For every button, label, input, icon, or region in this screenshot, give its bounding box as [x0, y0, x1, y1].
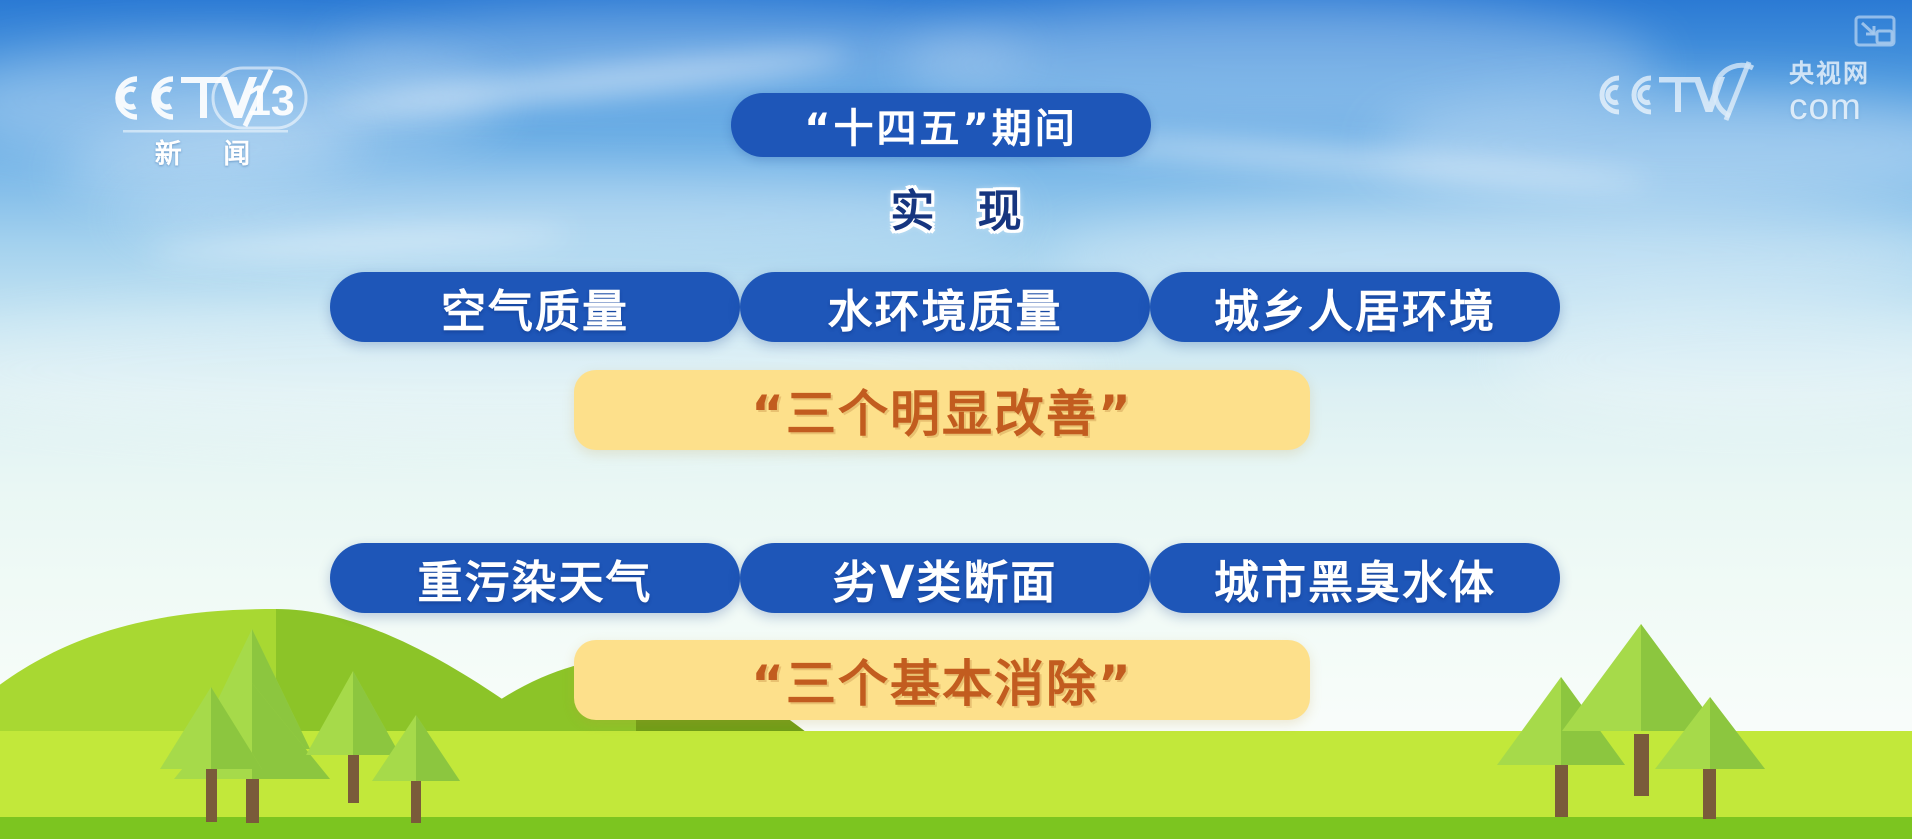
pill-urban-rural-living[interactable]: 城乡人居环境 [1150, 272, 1560, 342]
pill-label: 空气质量 [441, 275, 629, 340]
pill-label: 劣Ⅴ类断面 [833, 546, 1058, 611]
subtitle-text: 实 现 [876, 175, 1035, 239]
banner-three-eliminations: “三个基本消除” [574, 640, 1310, 720]
subtitle-block: 实 现 [0, 175, 1912, 239]
pill-label: 水环境质量 [827, 275, 1062, 340]
broadcast-graphic: 13 新 闻 [0, 0, 1912, 839]
headline-text: “十四五”期间 [804, 96, 1078, 154]
content-layer: “十四五”期间 实 现 空气质量 水环境质量 城乡人居环境 “三个明显改善” 重… [0, 0, 1912, 839]
pill-inferior-class-v-section[interactable]: 劣Ⅴ类断面 [740, 543, 1150, 613]
headline-pill: “十四五”期间 [731, 93, 1151, 157]
pill-urban-black-odorous-water[interactable]: 城市黑臭水体 [1150, 543, 1560, 613]
banner-three-improvements: “三个明显改善” [574, 370, 1310, 450]
pill-label: 重污染天气 [417, 546, 652, 611]
pill-label: 城乡人居环境 [1214, 275, 1496, 340]
banner-label: “三个明显改善” [751, 374, 1133, 446]
banner-label: “三个基本消除” [751, 644, 1133, 716]
pill-row-eliminate: 重污染天气 劣Ⅴ类断面 城市黑臭水体 [330, 543, 1560, 613]
pill-water-environment[interactable]: 水环境质量 [740, 272, 1150, 342]
pill-row-improve: 空气质量 水环境质量 城乡人居环境 [330, 272, 1560, 342]
pill-heavy-pollution-weather[interactable]: 重污染天气 [330, 543, 740, 613]
pill-air-quality[interactable]: 空气质量 [330, 272, 740, 342]
pill-label: 城市黑臭水体 [1214, 546, 1496, 611]
